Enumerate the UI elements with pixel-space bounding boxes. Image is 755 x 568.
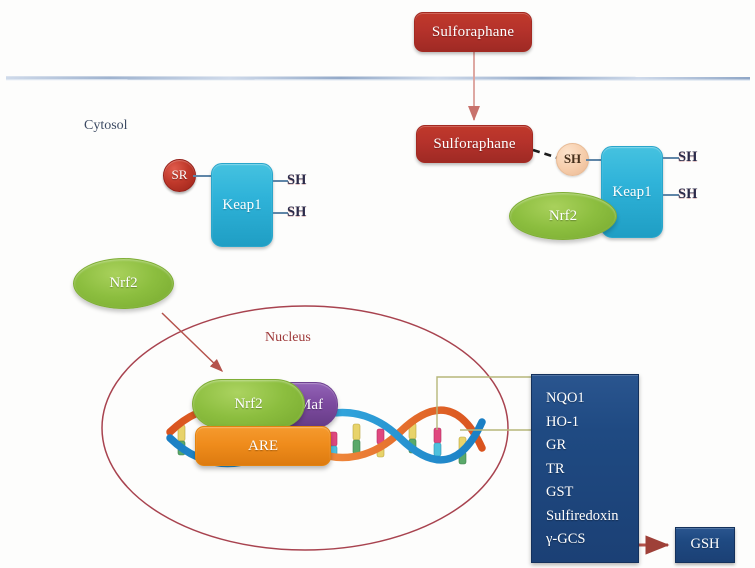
sh-free-lower-label: SH [287, 204, 306, 221]
nrf2-cytosol-label: Nrf2 [109, 275, 137, 292]
bond-sulforaphane-sh-dashed [533, 150, 558, 158]
gsh-label: GSH [690, 537, 719, 553]
nrf2-cytosol-node[interactable]: Nrf2 [73, 258, 174, 309]
connector-dna-to-gene-box [437, 377, 533, 430]
gene-item: TR [546, 458, 638, 482]
gsh-node[interactable]: GSH [675, 527, 735, 563]
sulforaphane-extracellular-label: Sulforaphane [432, 24, 514, 41]
nucleus-label: Nucleus [265, 330, 311, 346]
nrf2-nucleus-label: Nrf2 [234, 396, 262, 413]
sulforaphane-extracellular-node[interactable]: Sulforaphane [414, 12, 532, 52]
sh-free-upper-label: SH [287, 172, 306, 189]
sh-circle-label: SH [564, 152, 581, 166]
sulforaphane-bound-label: Sulforaphane [433, 136, 515, 153]
sr-label: SR [172, 168, 188, 182]
sh-circle-node[interactable]: SH [556, 143, 589, 176]
arrow-nrf2-translocation [162, 313, 222, 371]
sr-node[interactable]: SR [163, 159, 196, 192]
keap1-bound-label: Keap1 [612, 184, 651, 201]
nrf2-complex-node[interactable]: Nrf2 [509, 192, 617, 240]
nrf2-nucleus-node[interactable]: Nrf2 [192, 379, 305, 429]
pathway-diagram-canvas: Cytosol Nucleus Sulforaphane Sulforaphan… [0, 0, 755, 568]
keap1-free-label: Keap1 [222, 197, 261, 214]
gene-item: HO-1 [546, 411, 638, 435]
gene-item: Sulfiredoxin [546, 505, 638, 529]
sh-bound-lower-label: SH [678, 186, 697, 203]
are-node[interactable]: ARE [195, 426, 331, 466]
cytosol-label: Cytosol [84, 118, 128, 134]
keap1-bound-sh-bond-lower [663, 194, 679, 196]
keap1-bound-sh-bond-upper [663, 157, 679, 159]
gene-item: NQO1 [546, 387, 638, 411]
keap1-free-sh-bond-upper [273, 180, 288, 182]
gene-item: γ-GCS [546, 528, 638, 552]
gene-item: GST [546, 481, 638, 505]
target-gene-box[interactable]: NQO1 HO-1 GR TR GST Sulfiredoxin γ-GCS [531, 374, 639, 563]
keap1-free-node[interactable]: Keap1 [211, 163, 273, 247]
keap1-free-sh-bond-lower [273, 212, 288, 214]
gene-item: GR [546, 434, 638, 458]
sh-bound-upper-label: SH [678, 149, 697, 166]
nrf2-complex-label: Nrf2 [549, 208, 577, 225]
are-label: ARE [248, 438, 278, 455]
plasma-membrane [6, 78, 750, 80]
sulforaphane-bound-node[interactable]: Sulforaphane [416, 125, 533, 163]
